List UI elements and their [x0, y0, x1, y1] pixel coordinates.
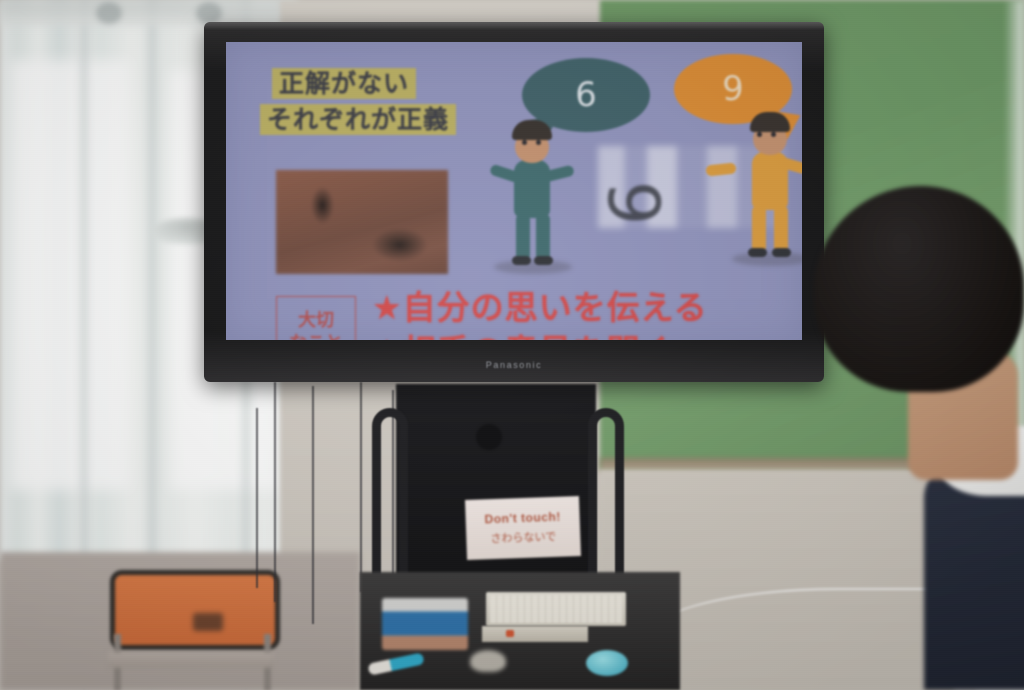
chair-logo	[193, 613, 223, 631]
key-box-line-1: 大切	[298, 309, 334, 332]
left-character-leg-2	[536, 214, 550, 260]
left-character-eye-1	[522, 140, 527, 145]
headline-line-2: それぞれが正義	[260, 104, 456, 135]
right-character-shoe-2	[772, 248, 791, 257]
warning-sign-line1: Don't touch!	[484, 510, 561, 527]
display-screen: 正解がない それぞれが正義 6 9 6	[226, 42, 802, 340]
right-character-shoe-1	[748, 248, 767, 257]
left-character-eye-2	[536, 140, 541, 145]
keyboard[interactable]	[486, 592, 626, 626]
right-bubble-value: 9	[722, 69, 744, 109]
display-brand-label: Panasonic	[204, 360, 824, 370]
left-character-shoe-2	[534, 256, 553, 265]
ambiguous-digit: 6	[595, 181, 677, 226]
curtain-clip-2	[196, 2, 222, 24]
chair-seat	[108, 652, 274, 668]
left-character-torso	[514, 160, 550, 218]
power-led-icon	[506, 630, 514, 637]
right-character-torso	[752, 152, 788, 210]
key-point-1: ★自分の思いを伝える	[372, 286, 708, 330]
right-character-eye-1	[757, 132, 762, 137]
presentation-slide: 正解がない それぞれが正義 6 9 6	[226, 42, 802, 340]
warning-sign-line2: さわらないで	[490, 528, 556, 546]
left-character-shoe-1	[512, 256, 531, 265]
student-vest	[924, 462, 1024, 690]
right-character-arm-pointing	[706, 162, 737, 176]
slide-headline: 正解がない それぞれが正義	[272, 68, 456, 135]
cyan-disc	[586, 650, 628, 676]
media-player-device[interactable]	[482, 626, 588, 642]
right-character-leg-1	[752, 206, 766, 252]
key-point-2: ★相手の意見を聞く	[372, 330, 708, 340]
stand-handle-left[interactable]	[372, 408, 408, 596]
mouse[interactable]	[470, 650, 506, 672]
curtain-clip-1	[96, 2, 122, 24]
stand-column	[396, 384, 596, 598]
keyboard-keys[interactable]	[490, 595, 622, 623]
right-character-shadow	[732, 252, 802, 266]
classroom-photo-scene: Don't touch! さわらないで 正解がない それぞれが正義 6 9	[0, 0, 1024, 690]
left-character-hair	[512, 120, 552, 140]
left-bubble-value: 6	[575, 75, 597, 115]
bezel-gloss	[204, 22, 824, 30]
key-points-list: ★自分の思いを伝える ★相手の意見を聞く	[372, 286, 708, 340]
right-character-eye-2	[771, 132, 776, 137]
stand-handle-right[interactable]	[588, 408, 624, 596]
student-hair	[814, 186, 1024, 392]
panasonic-display: 正解がない それぞれが正義 6 9 6	[204, 22, 824, 382]
left-character-shadow	[494, 260, 572, 274]
marker-pen-holder	[382, 598, 468, 650]
warning-sign: Don't touch! さわらないで	[465, 496, 581, 560]
right-character-hair	[750, 112, 790, 132]
slide-photo-thumbnail	[276, 170, 448, 274]
stand-camera-knob	[476, 424, 502, 450]
window-pane-left	[10, 60, 130, 490]
headline-line-1: 正解がない	[272, 68, 416, 99]
student	[804, 186, 1024, 690]
left-character	[486, 120, 578, 270]
key-box-line-2: なこと	[289, 332, 343, 340]
left-character-leg-1	[516, 214, 530, 260]
right-character-leg-2	[774, 206, 788, 252]
right-character	[724, 112, 802, 262]
key-points-label-box: 大切 なこと	[276, 296, 356, 340]
